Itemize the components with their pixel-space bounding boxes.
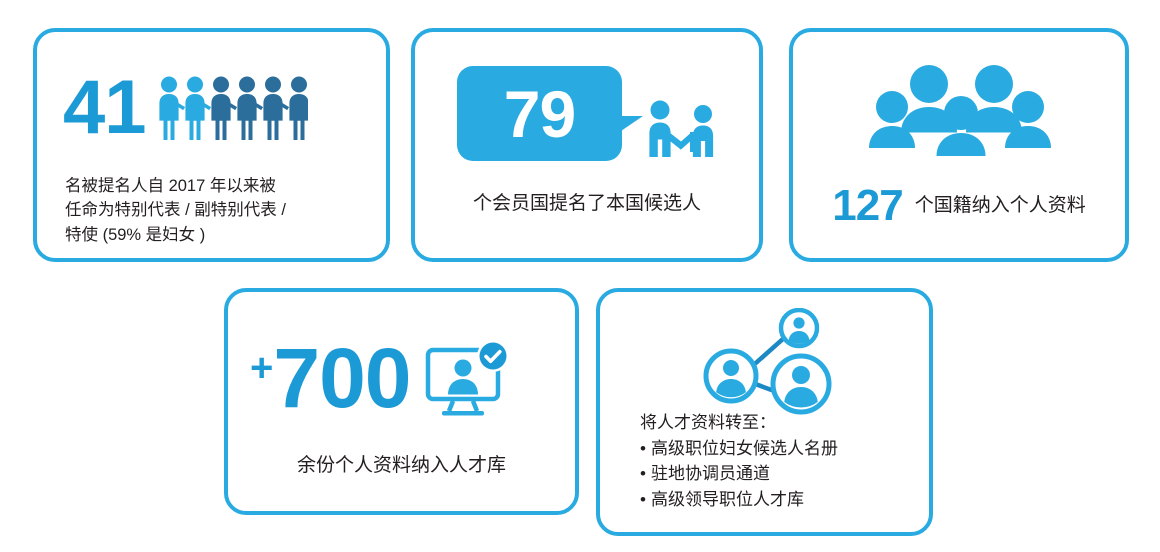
monitor-base (442, 411, 484, 416)
stat-headline-row: 127 个国籍纳入个人资料 (793, 184, 1125, 228)
speech-bubble-icon: 79 (457, 66, 622, 161)
network-node-top (781, 310, 817, 346)
monitor-profile-verified-icon (425, 341, 511, 419)
list-item: 高级职位妇女候选人名册 (640, 436, 838, 462)
transfer-list-block: 将人才资料转至： 高级职位妇女候选人名册 驻地协调员通道 高级领导职位人才库 (640, 410, 838, 513)
stat-card-profiles-in-talent-pool: + 700 余份个人资料纳入人 (224, 288, 579, 515)
stat-number: 127 (832, 184, 902, 228)
person-figure-2 (185, 77, 211, 141)
network-node-left (706, 351, 756, 401)
meeting-handshake (670, 132, 692, 149)
list-item: 高级领导职位人才库 (640, 487, 838, 513)
stat-headline-row: 41 (63, 70, 308, 146)
people-group-icon (867, 62, 1051, 158)
stat-card-nominees-appointed: 41 (33, 28, 390, 262)
meeting-person-right-body (693, 126, 713, 158)
six-people-icon (156, 75, 308, 141)
stat-number-prefix: + (250, 348, 273, 388)
person-figure-3 (211, 77, 237, 141)
stat-card-talent-profiles-transferred: 将人才资料转至： 高级职位妇女候选人名册 驻地协调员通道 高级领导职位人才库 (596, 288, 933, 536)
infographic-canvas: 41 (0, 0, 1160, 552)
stat-number: 79 (504, 81, 575, 147)
person-figure-5 (263, 77, 289, 141)
stat-number: 41 (63, 70, 146, 146)
person-figure-4 (237, 77, 263, 141)
stat-caption: 名被提名人自 2017 年以来被 任命为特别代表 / 副特别代表 / 特使 (5… (65, 174, 377, 247)
stat-caption: 余份个人资料纳入人才库 (228, 452, 575, 480)
meeting-person-left-body (649, 123, 670, 158)
meeting-person-right-head (694, 105, 712, 123)
stat-headline-row: + 700 (250, 336, 511, 420)
network-people-icon (695, 308, 835, 416)
verified-check-badge (477, 341, 509, 372)
stat-graphic (793, 62, 1125, 158)
speech-bubble-tail (621, 116, 643, 131)
person-figure-1 (159, 77, 185, 141)
transfer-list-heading: 将人才资料转至： (640, 410, 838, 436)
meeting-person-left-head (651, 101, 670, 120)
two-people-meeting-icon (644, 99, 718, 159)
stat-card-nationalities-in-profiles: 127 个国籍纳入个人资料 (789, 28, 1129, 262)
meeting-divider (690, 132, 694, 152)
monitor-stand (449, 401, 477, 411)
network-node-bottom (773, 356, 829, 412)
stat-caption: 个会员国提名了本国候选人 (415, 190, 759, 218)
transfer-list: 高级职位妇女候选人名册 驻地协调员通道 高级领导职位人才库 (640, 436, 838, 513)
stat-caption: 个国籍纳入个人资料 (915, 192, 1086, 220)
person-figure-6 (289, 77, 308, 141)
stat-card-member-states-nominated: 79 个会员国提名了本国候选人 (411, 28, 763, 262)
list-item: 驻地协调员通道 (640, 461, 838, 487)
stat-headline-row: 79 (457, 66, 718, 161)
stat-graphic (600, 308, 929, 416)
stat-number: 700 (273, 336, 410, 420)
monitor-person-silhouette (448, 360, 478, 395)
